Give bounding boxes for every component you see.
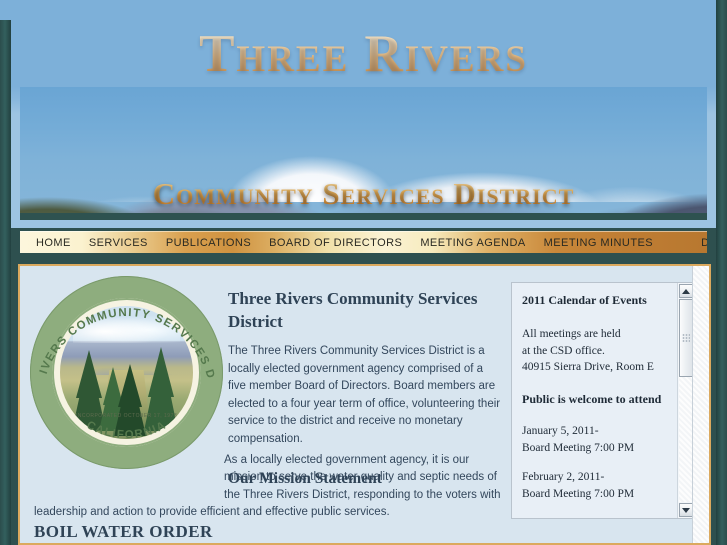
district-seal-logo: INCORPORATED OCTOBER 17, 1973 THREE RIVE… xyxy=(30,276,223,469)
calendar-location-line-3: 40915 Sierra Drive, Room E xyxy=(522,359,670,376)
site-title: Three Rivers xyxy=(11,24,716,84)
content-gold-border: INCORPORATED OCTOBER 17, 1973 THREE RIVE… xyxy=(18,264,711,545)
banner-bottom-band xyxy=(20,213,707,220)
seal-arc-bottom-text: CALIFORNIA xyxy=(84,419,168,441)
nav-meeting-agenda[interactable]: MEETING AGENDA xyxy=(411,232,534,254)
calendar-of-events-panel: 2011 Calendar of Events All meetings are… xyxy=(511,282,694,519)
calendar-event-date: January 5, 2011- xyxy=(522,423,670,440)
seal-arc-text-svg: THREE RIVERS COMMUNITY SERVICES DISTRICT… xyxy=(30,276,223,469)
calendar-event-date: March 3, 2011- xyxy=(522,516,670,518)
calendar-content: 2011 Calendar of Events All meetings are… xyxy=(512,283,678,518)
navigation-bar-wrapper: HOMESERVICESPUBLICATIONSBOARD OF DIRECTO… xyxy=(11,228,716,258)
calendar-event-detail: Board Meeting 7:00 PM xyxy=(522,440,670,457)
nav-meeting-minutes[interactable]: MEETING MINUTES xyxy=(535,232,662,254)
page-root: Three Rivers Community Services District… xyxy=(0,0,727,545)
mission-statement-block: As a locally elected government agency, … xyxy=(34,452,504,522)
scroll-down-button[interactable] xyxy=(679,503,693,517)
nav-publications[interactable]: PUBLICATIONS xyxy=(157,232,260,254)
page-scrollbar-gutter[interactable] xyxy=(692,266,709,543)
calendar-event-list: January 5, 2011-Board Meeting 7:00 PMFeb… xyxy=(522,423,670,518)
scroll-up-button[interactable] xyxy=(679,284,693,298)
calendar-location-line-1: All meetings are held xyxy=(522,326,670,343)
calendar-public-notice: Public is welcome to attend xyxy=(522,392,670,407)
calendar-scrollbar-thumb[interactable] xyxy=(679,299,693,377)
boil-water-order-heading: BOIL WATER ORDER xyxy=(34,522,213,542)
content-area: INCORPORATED OCTOBER 17, 1973 THREE RIVE… xyxy=(20,266,709,543)
calendar-event-item: January 5, 2011-Board Meeting 7:00 PM xyxy=(522,423,670,456)
calendar-scrollbar[interactable] xyxy=(677,283,693,518)
site-subtitle: Community Services District xyxy=(20,176,707,212)
calendar-event-item: March 3, 2011-Board Meeting 7:00 PM xyxy=(522,516,670,518)
scrollbar-grip-icon xyxy=(682,334,690,343)
content-frame: INCORPORATED OCTOBER 17, 1973 THREE RIVE… xyxy=(11,258,716,545)
page-frame-right xyxy=(716,0,727,545)
page-title: Three Rivers Community Services District xyxy=(228,288,504,333)
seal-arc-top-text: THREE RIVERS COMMUNITY SERVICES DISTRICT xyxy=(30,276,217,381)
seal-incorporated-text: INCORPORATED OCTOBER 17, 1973 xyxy=(60,413,193,419)
nav-home[interactable]: HOME xyxy=(20,232,80,254)
calendar-title: 2011 Calendar of Events xyxy=(522,293,670,308)
calendar-event-date: February 2, 2011- xyxy=(522,469,670,486)
mountain-photo: Community Services District xyxy=(20,87,707,220)
page-frame-left xyxy=(0,20,11,545)
intro-paragraph: The Three Rivers Community Services Dist… xyxy=(228,343,504,448)
main-navigation[interactable]: HOMESERVICESPUBLICATIONSBOARD OF DIRECTO… xyxy=(20,231,707,253)
site-banner: Three Rivers Community Services District xyxy=(11,0,716,228)
chevron-up-icon xyxy=(682,289,690,294)
nav-district-1[interactable]: DISTRICT #1 xyxy=(692,232,707,254)
calendar-event-detail: Board Meeting 7:00 PM xyxy=(522,486,670,503)
mission-text-indent-spacer xyxy=(34,452,224,490)
chevron-down-icon xyxy=(682,508,690,513)
nav-board-of-directors[interactable]: BOARD OF DIRECTORS xyxy=(260,232,411,254)
calendar-event-item: February 2, 2011-Board Meeting 7:00 PM xyxy=(522,469,670,502)
nav-services[interactable]: SERVICES xyxy=(80,232,157,254)
calendar-location-line-2: at the CSD office. xyxy=(522,343,670,360)
